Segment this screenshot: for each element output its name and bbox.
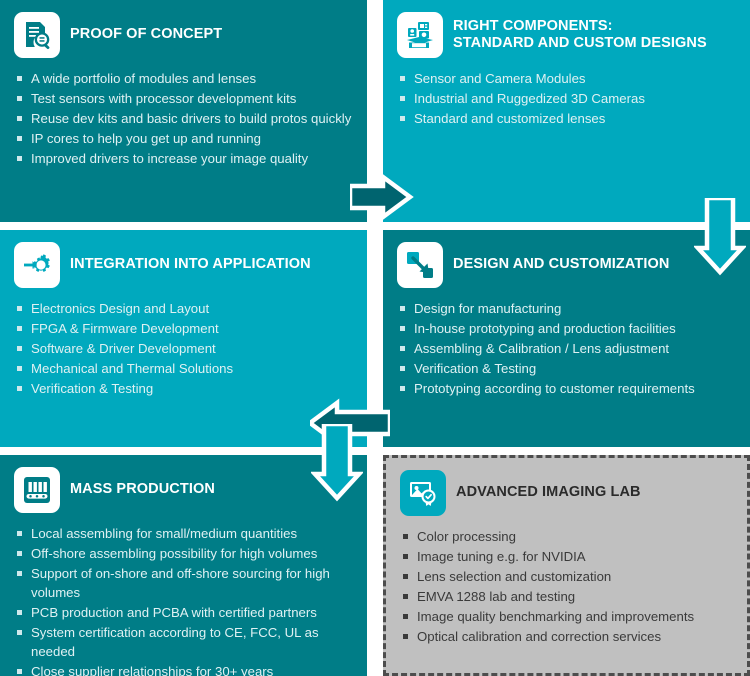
list-item: Color processing [402, 527, 733, 546]
list-item: PCB production and PCBA with certified p… [16, 603, 353, 622]
panel-title: RIGHT COMPONENTS: STANDARD AND CUSTOM DE… [453, 18, 707, 52]
panel-header: RIGHT COMPONENTS: STANDARD AND CUSTOM DE… [383, 0, 750, 58]
bullet-list: A wide portfolio of modules and lenses T… [0, 69, 367, 168]
list-item: In-house prototyping and production faci… [399, 319, 736, 338]
list-item: Test sensors with processor development … [16, 89, 353, 108]
list-item: Local assembling for small/medium quanti… [16, 524, 353, 543]
gear-arrow-icon [14, 242, 60, 288]
list-item: Close supplier relationships for 30+ yea… [16, 662, 353, 676]
list-item: Prototyping according to customer requir… [399, 379, 736, 398]
list-item: Software & Driver Development [16, 339, 353, 358]
components-box-icon [397, 12, 443, 58]
list-item: A wide portfolio of modules and lenses [16, 69, 353, 88]
conveyor-belt-icon [14, 467, 60, 513]
bullet-list: Local assembling for small/medium quanti… [0, 524, 367, 676]
arrow-poc-to-components [350, 172, 430, 222]
list-item: Verification & Testing [16, 379, 353, 398]
list-item: Support of on-shore and off-shore sourci… [16, 564, 353, 602]
list-item: Image tuning e.g. for NVIDIA [402, 547, 733, 566]
list-item: FPGA & Firmware Development [16, 319, 353, 338]
list-item: Verification & Testing [399, 359, 736, 378]
list-item: Off-shore assembling possibility for hig… [16, 544, 353, 563]
process-flow-diagram: PROOF OF CONCEPT A wide portfolio of mod… [0, 0, 750, 676]
image-certificate-icon [400, 470, 446, 516]
panel-header: INTEGRATION INTO APPLICATION [0, 230, 367, 288]
arrow-design-to-imaging-lab [694, 424, 746, 506]
panel-right-components[interactable]: RIGHT COMPONENTS: STANDARD AND CUSTOM DE… [383, 0, 750, 222]
list-item: Lens selection and customization [402, 567, 733, 586]
list-item: Optical calibration and correction servi… [402, 627, 733, 646]
panel-title: INTEGRATION INTO APPLICATION [70, 256, 311, 273]
list-item: Mechanical and Thermal Solutions [16, 359, 353, 378]
list-item: Standard and customized lenses [399, 109, 736, 128]
list-item: Image quality benchmarking and improveme… [402, 607, 733, 626]
bullet-list: Electronics Design and Layout FPGA & Fir… [0, 299, 367, 398]
list-item: IP cores to help you get up and running [16, 129, 353, 148]
panel-title: PROOF OF CONCEPT [70, 26, 222, 43]
bullet-list: Color processing Image tuning e.g. for N… [386, 527, 747, 646]
panel-title: MASS PRODUCTION [70, 481, 215, 498]
panel-title: ADVANCED IMAGING LAB [456, 484, 641, 501]
list-item: EMVA 1288 lab and testing [402, 587, 733, 606]
bullet-list: Design for manufacturing In-house protot… [383, 299, 750, 398]
panel-header: PROOF OF CONCEPT [0, 0, 367, 58]
arrow-components-to-design [694, 198, 746, 280]
panel-title: DESIGN AND CUSTOMIZATION [453, 256, 669, 273]
list-item: Design for manufacturing [399, 299, 736, 318]
list-item: Reuse dev kits and basic drivers to buil… [16, 109, 353, 128]
list-item: Improved drivers to increase your image … [16, 149, 353, 168]
panel-proof-of-concept[interactable]: PROOF OF CONCEPT A wide portfolio of mod… [0, 0, 367, 222]
document-magnifier-icon [14, 12, 60, 58]
resize-arrow-icon [397, 242, 443, 288]
list-item: Assembling & Calibration / Lens adjustme… [399, 339, 736, 358]
bullet-list: Sensor and Camera Modules Industrial and… [383, 69, 750, 128]
arrow-integration-to-mass-production [311, 424, 363, 506]
list-item: Industrial and Ruggedized 3D Cameras [399, 89, 736, 108]
panel-header: ADVANCED IMAGING LAB [386, 458, 747, 516]
list-item: Sensor and Camera Modules [399, 69, 736, 88]
list-item: Electronics Design and Layout [16, 299, 353, 318]
list-item: System certification according to CE, FC… [16, 623, 353, 661]
